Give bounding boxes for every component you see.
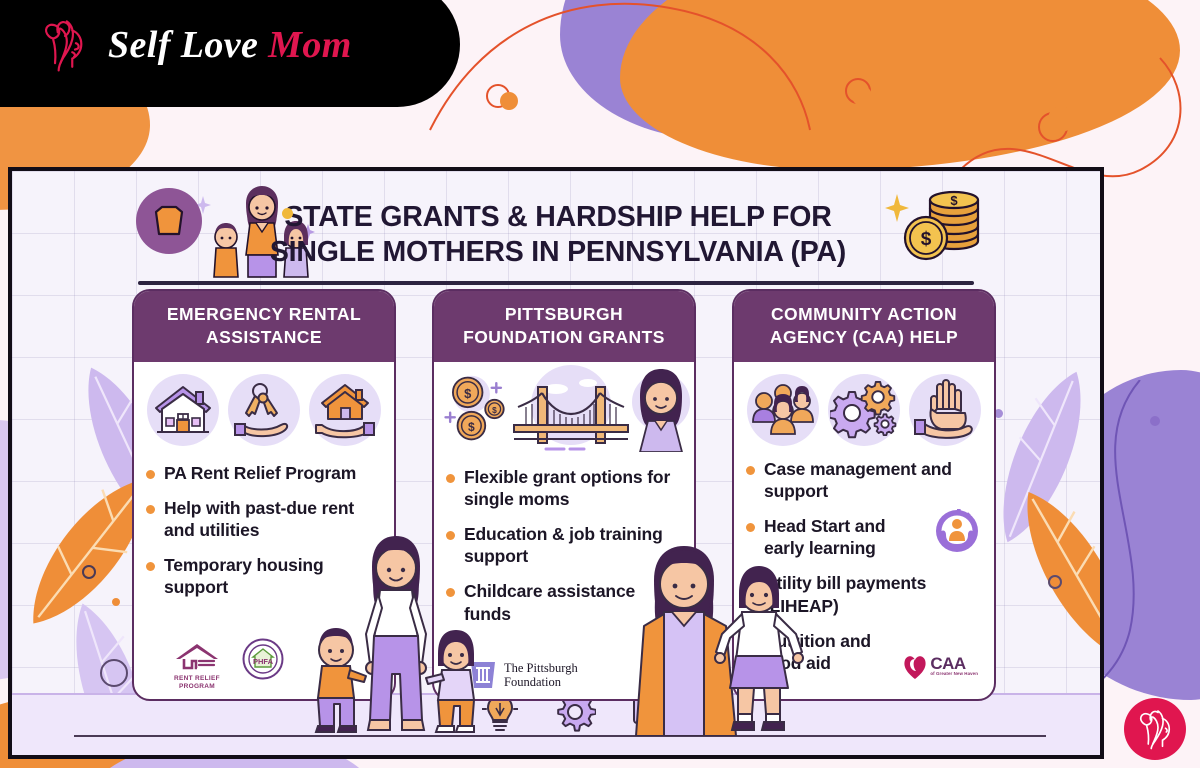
card-3-header: COMMUNITY ACTION AGENCY (CAA) HELP — [734, 291, 994, 362]
brand-logo-pill[interactable]: Self Love Mom — [0, 0, 460, 107]
pittsburgh-foundation-logo: The Pittsburgh Foundation — [468, 659, 578, 691]
svg-text:$: $ — [492, 405, 497, 415]
caa-logo-subtext: of Greater New Haven — [930, 672, 978, 676]
young-girl-illustration — [704, 556, 814, 741]
title-dot-orange — [282, 208, 293, 219]
single-mother-with-two-children-illustration — [314, 524, 484, 741]
woman-portrait-icon — [630, 366, 692, 452]
card-1-header: EMERGENCY RENTAL ASSISTANCE — [134, 291, 394, 362]
decorative-dot-4 — [1150, 416, 1160, 426]
house-in-hand-icon — [309, 374, 381, 446]
woman-face-flower-icon — [36, 16, 94, 74]
gears-icon — [828, 374, 900, 446]
keys-in-hand-icon — [228, 374, 300, 446]
svg-text:$: $ — [464, 385, 471, 400]
bullet-dot-icon — [446, 474, 455, 483]
svg-text:$: $ — [921, 229, 932, 250]
house-purple-icon — [147, 374, 219, 446]
list-item: Case management and support — [746, 458, 980, 502]
pittsburgh-bridge-icon — [512, 363, 630, 455]
dollar-coins-icon: $ $ $ — [440, 373, 512, 445]
pittsburgh-foundation-logo-text: The Pittsburgh Foundation — [504, 661, 578, 690]
bullet-dot-icon — [146, 562, 155, 571]
card-1-title-line2: ASSISTANCE — [144, 326, 384, 349]
svg-text:$: $ — [950, 193, 958, 208]
decorative-blob-orange-top — [620, 0, 1180, 170]
svg-text:PHFA: PHFA — [253, 657, 274, 666]
card-2-bullet-1: Flexible grant options for single moms — [464, 466, 680, 510]
decorative-dot-2 — [852, 86, 872, 106]
open-hand-icon — [909, 374, 981, 446]
card-2-icon-row: $ $ $ — [434, 362, 694, 454]
group-of-people-icon — [747, 374, 819, 446]
bullet-dot-icon — [746, 466, 755, 475]
rent-relief-program-logo: RENT RELIEF PROGRAM — [174, 642, 220, 691]
card-2-header: PITTSBURGH FOUNDATION GRANTS — [434, 291, 694, 362]
card-1-bullet-1: PA Rent Relief Program — [164, 462, 356, 484]
bullet-dot-icon — [146, 505, 155, 514]
caa-logo-text: CAA — [930, 655, 978, 672]
svg-text:$: $ — [468, 420, 475, 434]
brand-name-part2: Mom — [268, 24, 352, 66]
card-2-title-line1: PITTSBURGH — [444, 303, 684, 326]
list-item: Head Start and early learning — [746, 515, 980, 559]
card-3-icon-row — [734, 362, 994, 454]
decorative-dot-1 — [1048, 106, 1074, 132]
title-underline — [138, 281, 974, 285]
title-line-1: STATE GRANTS & HARDSHIP HELP FOR — [270, 200, 846, 235]
caa-logo: CAA of Greater New Haven — [902, 651, 978, 681]
card-3-bullet-2: Head Start and early learning — [764, 515, 914, 559]
rent-relief-logo-text: RENT RELIEF PROGRAM — [174, 675, 220, 691]
list-item: PA Rent Relief Program — [146, 462, 380, 484]
decorative-dot-3 — [500, 92, 518, 110]
card-1-icon-row — [134, 362, 394, 454]
pennsylvania-keystone-icon — [136, 188, 202, 254]
card-3-title-line1: COMMUNITY ACTION — [744, 303, 984, 326]
stack-of-gold-coins-icon: $ $ — [902, 184, 988, 273]
cards-container: EMERGENCY RENTAL ASSISTANCE — [12, 281, 1104, 701]
brand-name: Self Love Mom — [108, 23, 352, 67]
corner-brand-badge[interactable] — [1124, 698, 1186, 760]
brand-name-part1: Self Love — [108, 24, 258, 66]
title-line-2: SINGLE MOTHERS IN PENNSYLVANIA (PA) — [270, 235, 846, 270]
card-3-bullet-1: Case management and support — [764, 458, 980, 502]
card-3-title-line2: AGENCY (CAA) HELP — [744, 326, 984, 349]
bullet-dot-icon — [746, 523, 755, 532]
woman-face-flower-badge-icon — [1131, 705, 1179, 753]
infographic-panel: STATE GRANTS & HARDSHIP HELP FOR SINGLE … — [8, 167, 1104, 759]
card-1-title-line1: EMERGENCY RENTAL — [144, 303, 384, 326]
bullet-dot-icon — [146, 470, 155, 479]
head-start-hands-gear-icon — [930, 507, 984, 559]
phfa-circular-badge-logo: PHFA — [242, 638, 284, 685]
bottom-floor-line — [74, 735, 1046, 738]
list-item: Flexible grant options for single moms — [446, 466, 680, 510]
page-title: STATE GRANTS & HARDSHIP HELP FOR SINGLE … — [270, 200, 846, 271]
card-2-title-line2: FOUNDATION GRANTS — [444, 326, 684, 349]
